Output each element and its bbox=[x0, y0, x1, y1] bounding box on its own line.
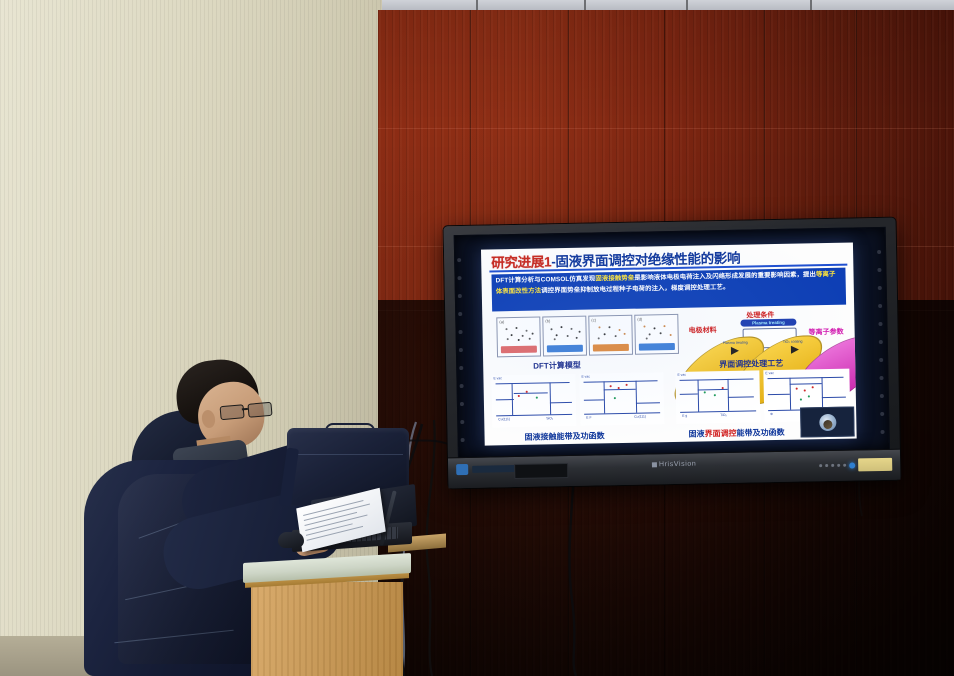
computer-mouse[interactable] bbox=[278, 532, 304, 548]
arrow-tio2-coating bbox=[791, 346, 799, 354]
display-brand-label: HrisVision bbox=[652, 461, 697, 469]
avatar bbox=[819, 413, 836, 430]
chin-right-group[interactable] bbox=[819, 458, 892, 472]
dft-cell-c-tag: (c) bbox=[591, 317, 596, 322]
dft-cell-d: (d) bbox=[634, 314, 679, 355]
plate-tio2 bbox=[803, 337, 847, 358]
footer-caption-left: 固液接触能带及功函数 bbox=[524, 430, 604, 443]
body-part-0: DFT计算分析与COMSOL仿真发现 bbox=[496, 275, 596, 284]
video-pip-window[interactable] bbox=[800, 407, 855, 438]
slide-title-red: 研究进展1 bbox=[491, 250, 551, 271]
slide-middle-diagram: (a) (b) bbox=[490, 309, 849, 378]
volume-down-button-icon[interactable] bbox=[837, 464, 840, 467]
dft-cell-a: (a) bbox=[496, 317, 541, 358]
asset-sticker bbox=[858, 458, 892, 472]
caption-dft-model: DFT计算模型 bbox=[533, 360, 581, 372]
power-button-icon[interactable] bbox=[819, 464, 822, 467]
dft-cell-a-tag: (a) bbox=[499, 319, 504, 324]
band-diagram-3: E vac E g TiO₂ bbox=[675, 370, 760, 424]
laptop[interactable] bbox=[290, 492, 418, 556]
menu-button-icon[interactable] bbox=[825, 464, 828, 467]
io-port-slot[interactable] bbox=[514, 463, 568, 479]
atom-cloud bbox=[593, 324, 627, 341]
brand-text: HrisVision bbox=[659, 461, 697, 469]
dft-cell-b-band bbox=[547, 345, 583, 353]
arrow-label-tio2: TiO₂ coating bbox=[783, 339, 803, 343]
footer-right-post: 能带及功函数 bbox=[736, 428, 784, 438]
plate-treated bbox=[743, 336, 787, 357]
ir-sensor-strip-left bbox=[455, 236, 469, 457]
footer-caption-right: 固液界面调控能带及功函数 bbox=[688, 427, 784, 440]
caption-electrode-material: 电极材料 bbox=[688, 325, 716, 336]
bag-zipper bbox=[293, 454, 403, 455]
arrow-plasma-treating bbox=[731, 347, 739, 355]
dft-cell-c-band bbox=[593, 344, 629, 352]
vendor-badge-icon bbox=[456, 464, 468, 475]
volume-up-button-icon[interactable] bbox=[831, 464, 834, 467]
body-part-2: 是影响液体电极电荷注入及闪络形成发展的重要影响因素，提出 bbox=[634, 271, 816, 281]
power-led-icon bbox=[849, 462, 855, 468]
interactive-flat-panel-display[interactable]: 研究进展1-固液界面调控对绝缘性能的影响 DFT计算分析与COMSOL仿真发现固… bbox=[444, 218, 901, 489]
podium-body bbox=[251, 582, 403, 676]
footer-right-red: 界面调控 bbox=[704, 429, 736, 439]
dft-cell-b: (b) bbox=[542, 316, 587, 357]
dft-cell-a-band bbox=[501, 346, 537, 354]
slide-band-diagrams: E vac Cu(111) SiO₂ E vac bbox=[491, 369, 850, 434]
photo-scene: 研究进展1-固液界面调控对绝缘性能的影响 DFT计算分析与COMSOL仿真发现固… bbox=[0, 0, 954, 676]
presentation-slide[interactable]: 研究进展1-固液界面调控对绝缘性能的影响 DFT计算分析与COMSOL仿真发现固… bbox=[481, 243, 857, 446]
display-bezel: 研究进展1-固液界面调控对绝缘性能的影响 DFT计算分析与COMSOL仿真发现固… bbox=[454, 227, 890, 458]
band-diagram-2: E vac E F Cu(111) bbox=[579, 372, 664, 426]
plasma-treating-pill: Plasma treating bbox=[740, 319, 796, 327]
footer-right-pre: 固液 bbox=[688, 429, 704, 438]
caption-process: 界面调控处理工艺 bbox=[719, 358, 783, 370]
dft-cell-c: (c) bbox=[588, 315, 633, 356]
lectern-podium bbox=[243, 558, 411, 676]
brand-mark-icon bbox=[652, 462, 657, 467]
body-part-4: 调控界面势垒抑制放电过程种子电荷的注入，梯度调控处理工艺。 bbox=[541, 283, 729, 294]
atom-cloud bbox=[639, 323, 673, 340]
band-diagram-1: E vac Cu(111) SiO₂ bbox=[491, 374, 576, 428]
body-part-1: 固液接触势垒 bbox=[595, 275, 634, 283]
source-button-icon[interactable] bbox=[843, 464, 846, 467]
dft-cell-d-band bbox=[639, 343, 675, 351]
atom-cloud bbox=[547, 325, 581, 342]
dft-cell-b-tag: (b) bbox=[545, 318, 550, 323]
slide-summary-text: DFT计算分析与COMSOL仿真发现固液接触势垒是影响液体电极电荷注入及闪络形成… bbox=[491, 268, 846, 312]
chin-strip bbox=[472, 465, 516, 473]
chin-left-group bbox=[456, 463, 516, 475]
atom-cloud bbox=[501, 326, 535, 343]
dft-cell-d-tag: (d) bbox=[637, 317, 642, 322]
